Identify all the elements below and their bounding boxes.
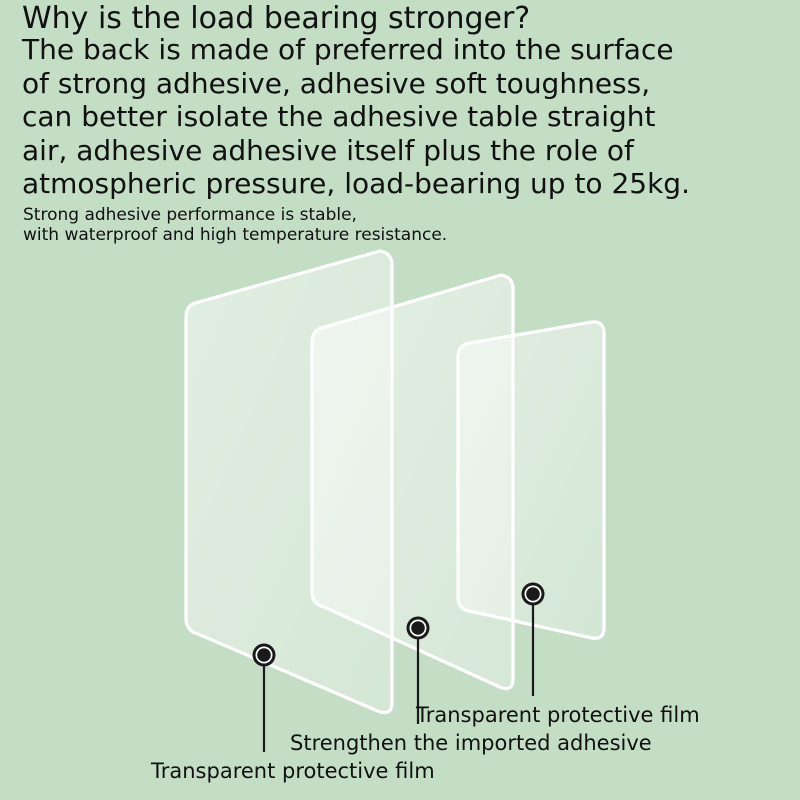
callout-label-front: Transparent protective film [416, 703, 700, 727]
callout-label-middle: Strengthen the imported adhesive [290, 731, 652, 755]
body-line: atmospheric pressure, load-bearing up to… [22, 167, 782, 201]
marker-dot-back [257, 648, 271, 662]
body-line: air, adhesive adhesive itself plus the r… [22, 134, 782, 168]
callout-back [253, 644, 276, 753]
callout-front [522, 583, 545, 697]
marker-dot-middle [411, 621, 425, 635]
sub-line: Strong adhesive performance is stable, [23, 205, 447, 225]
body-line: The back is made of preferred into the s… [22, 33, 782, 67]
page-title: Why is the load bearing stronger? [22, 2, 530, 36]
body-paragraph: The back is made of preferred into the s… [22, 33, 782, 201]
callout-label-back: Transparent protective film [151, 759, 435, 783]
marker-dot-front [526, 587, 540, 601]
sub-line: with waterproof and high temperature res… [23, 225, 447, 245]
body-line: can better isolate the adhesive table st… [22, 100, 782, 134]
body-line: of strong adhesive, adhesive soft toughn… [22, 67, 782, 101]
infographic-poster: Why is the load bearing stronger? The ba… [0, 0, 800, 800]
sub-paragraph: Strong adhesive performance is stable, w… [23, 205, 447, 245]
